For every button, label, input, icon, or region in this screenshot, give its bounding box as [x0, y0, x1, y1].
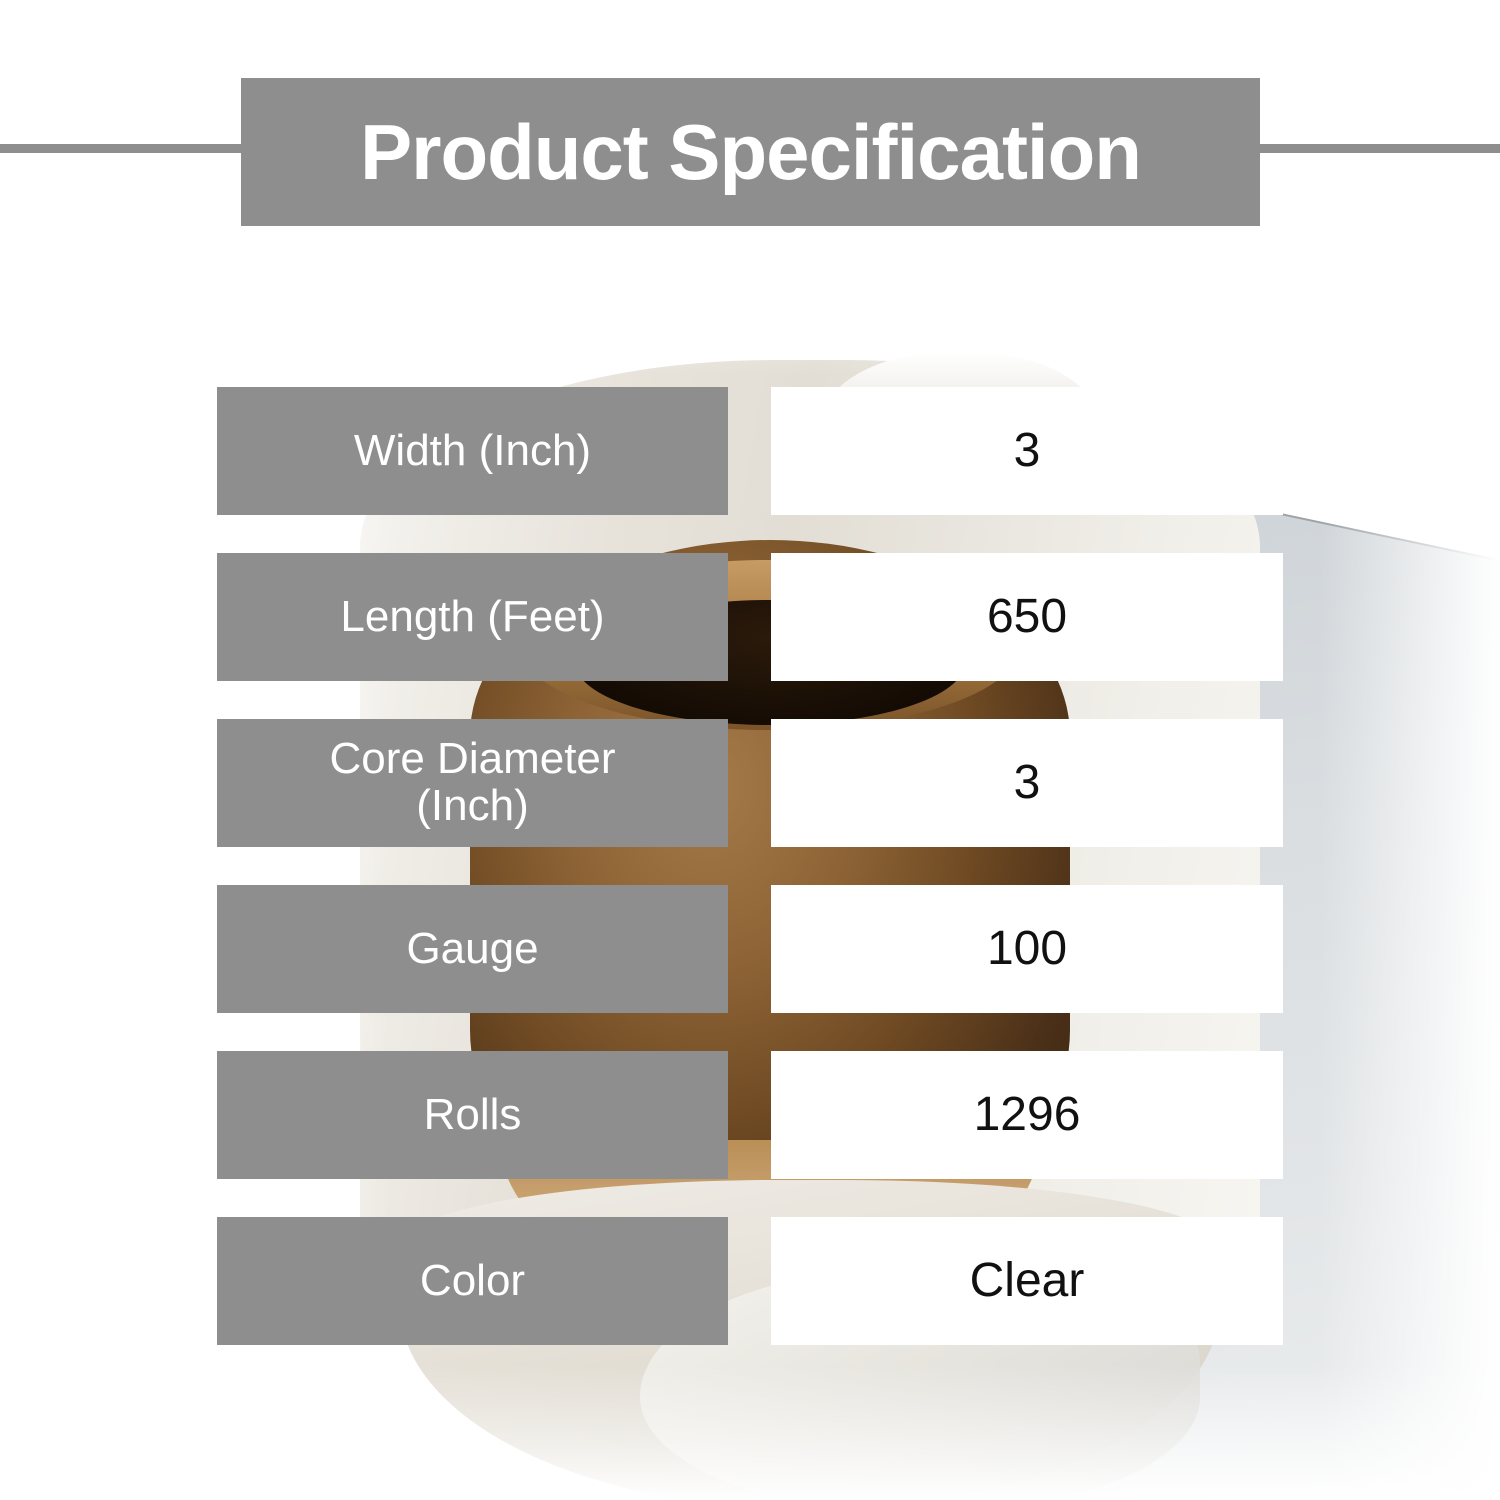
spec-label-rolls: Rolls — [424, 1092, 522, 1139]
spec-label-length: Length (Feet) — [340, 594, 604, 641]
header-rule-right — [1255, 144, 1500, 153]
spec-value-cell: 1296 — [771, 1051, 1283, 1179]
table-row: Length (Feet) 650 — [0, 553, 1500, 681]
spec-label-cell: Rolls — [217, 1051, 728, 1179]
spec-label-cell: Color — [217, 1217, 728, 1345]
spec-value-cell: 650 — [771, 553, 1283, 681]
spec-label-width: Width (Inch) — [354, 428, 591, 475]
title-banner: Product Specification — [241, 78, 1260, 226]
spec-value-cell: 100 — [771, 885, 1283, 1013]
spec-label-gauge: Gauge — [406, 926, 538, 973]
table-row: Gauge 100 — [0, 885, 1500, 1013]
spec-value-rolls: 1296 — [974, 1091, 1081, 1139]
spec-value-cell: 3 — [771, 387, 1283, 515]
spec-value-color: Clear — [970, 1257, 1085, 1305]
spec-value-width: 3 — [1014, 427, 1041, 475]
page-header: Product Specification — [0, 78, 1500, 226]
spec-label-cell: Gauge — [217, 885, 728, 1013]
spec-label-cell: Width (Inch) — [217, 387, 728, 515]
spec-label-cell: Core Diameter (Inch) — [217, 719, 728, 847]
spec-label-cell: Length (Feet) — [217, 553, 728, 681]
spec-label-color: Color — [420, 1258, 525, 1305]
spec-label-core-diameter: Core Diameter (Inch) — [329, 736, 615, 829]
spec-value-length: 650 — [987, 593, 1067, 641]
specification-table: Width (Inch) 3 Length (Feet) 650 Core Di… — [0, 387, 1500, 1383]
product-specification-page: Product Specification Width (Inch) 3 Len… — [0, 0, 1500, 1500]
table-row: Width (Inch) 3 — [0, 387, 1500, 515]
spec-value-core-diameter: 3 — [1014, 759, 1041, 807]
spec-value-gauge: 100 — [987, 925, 1067, 973]
table-row: Color Clear — [0, 1217, 1500, 1345]
table-row: Core Diameter (Inch) 3 — [0, 719, 1500, 847]
spec-value-cell: Clear — [771, 1217, 1283, 1345]
page-title: Product Specification — [360, 113, 1141, 191]
table-row: Rolls 1296 — [0, 1051, 1500, 1179]
header-rule-left — [0, 144, 246, 153]
spec-value-cell: 3 — [771, 719, 1283, 847]
